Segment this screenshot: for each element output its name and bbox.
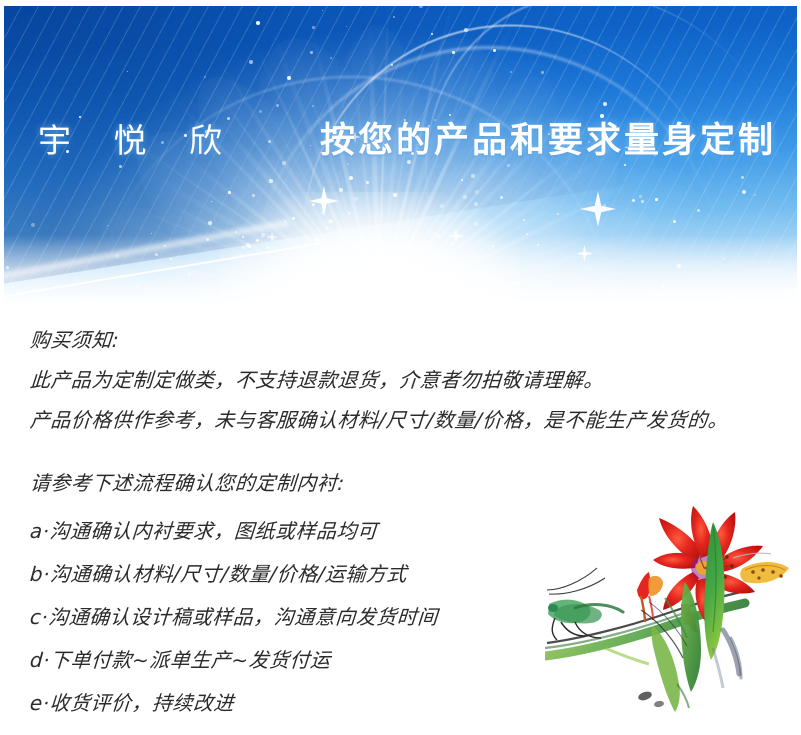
light-ray (378, 231, 661, 305)
light-petal-veil (215, 16, 448, 305)
sparkle-dot (492, 245, 494, 247)
sparkle-dot (464, 28, 468, 32)
sparkle-dot (725, 283, 728, 286)
sparkle-dot (205, 130, 209, 134)
sparkle-dot (274, 251, 276, 253)
light-ray (131, 162, 380, 305)
sparkle-dot (493, 49, 496, 52)
sparkle-dot (431, 33, 433, 35)
sparkle-dot (284, 220, 286, 222)
sparkle-dot (507, 164, 510, 167)
sparkle-dot (261, 233, 265, 237)
sparkle-dot (228, 300, 231, 303)
branch-group (545, 592, 745, 656)
sparkle-dot (228, 191, 231, 194)
sparkle-dot (56, 284, 58, 286)
sparkle-dot (179, 270, 180, 271)
sparkle-dot (402, 257, 406, 261)
banner-center-glow (5, 14, 765, 305)
light-petal-veil (160, 47, 423, 305)
sparkle-dot (79, 116, 81, 118)
sparkle-dot (256, 239, 259, 242)
sparkle-dot (269, 179, 273, 183)
sparkle-dot (227, 117, 230, 120)
sparkle-dot (259, 110, 262, 113)
light-ray (115, 130, 378, 305)
light-ray (110, 215, 379, 305)
sparkle-dot (379, 131, 380, 132)
sparkle-dot (553, 128, 555, 130)
light-ray (377, 290, 671, 305)
sparkle-dot (339, 188, 343, 192)
star-sparkle-icon (576, 245, 593, 262)
sparkle-dot (407, 160, 411, 164)
sparkle-dot (436, 234, 439, 237)
star-sparkle-icon (624, 141, 637, 154)
sparkle-dot (151, 233, 152, 234)
light-ray (377, 139, 567, 305)
sparkle-dot (428, 230, 431, 233)
sparkle-dot (315, 238, 319, 242)
sparkle-dot (127, 71, 128, 72)
sparkle-dot (330, 220, 333, 223)
sparkle-dot (541, 71, 544, 74)
page-root: 宇 悦 欣 按您的产品和要求量身定制 购买须知: 此产品为定制定做类，不支持退款… (0, 0, 801, 735)
light-petal-veil (84, 173, 394, 305)
sparkle-dot (419, 6, 423, 8)
sparkle-dot (321, 211, 324, 214)
sparkle-dot (436, 294, 439, 297)
sparkle-dot (603, 204, 606, 207)
sparkle-dot (742, 190, 746, 194)
light-ray (377, 6, 523, 305)
sparkle-dot (204, 76, 206, 78)
sparkle-dot (349, 176, 353, 180)
light-ray (308, 20, 381, 305)
light-petal-veil (99, 85, 420, 305)
light-ray (322, 6, 378, 305)
banner-glow-core (219, 192, 519, 305)
sparkle-dot (206, 238, 209, 241)
sparkle-dot (475, 190, 479, 194)
sparkle-dot (247, 252, 249, 254)
light-ray (128, 293, 377, 305)
sparkle-dot (500, 196, 503, 199)
notice-heading: 购买须知: (29, 327, 120, 353)
sparkle-dot (287, 294, 290, 297)
sparkle-dot (242, 246, 245, 249)
sparkle-dot (453, 231, 456, 234)
banner-bottom-fade (4, 235, 797, 305)
sparkle-dot (402, 261, 404, 263)
sparkle-dot (434, 119, 436, 121)
light-ray (377, 38, 408, 305)
star-sparkle-icon (309, 186, 339, 216)
sparkle-dot (516, 148, 518, 150)
light-ray (378, 129, 642, 305)
sparkle-dot (312, 203, 315, 206)
sparkle-dot (671, 268, 672, 269)
sparkle-dot (762, 282, 764, 284)
sparkle-dot (322, 10, 323, 11)
grasshopper-icon (547, 568, 623, 640)
sparkle-dot (347, 163, 349, 165)
sparkle-dot (468, 298, 470, 300)
sparkle-dot (188, 273, 191, 276)
sparkle-dot (382, 136, 384, 138)
sparkle-dot (505, 299, 509, 303)
banner-arc-streak-4 (353, 6, 797, 305)
sparkle-dot (697, 209, 700, 212)
light-ray (260, 6, 382, 305)
sparkle-dot (754, 194, 756, 196)
sparkle-dot (136, 284, 139, 287)
sparkle-dot (239, 254, 243, 258)
sparkle-dot (327, 235, 329, 237)
light-ray (174, 149, 379, 305)
sparkle-dot (290, 278, 293, 281)
notice-line: 此产品为定制定做类，不支持退款退货，介意者勿拍敬请理解。 (29, 367, 605, 393)
light-ray (377, 10, 429, 305)
sparkle-dot (251, 257, 253, 259)
light-ray (377, 84, 598, 305)
sparkle-dot (256, 21, 260, 25)
sparkle-dot (639, 195, 642, 198)
light-ray (134, 243, 378, 305)
sparkle-dot (475, 277, 476, 278)
promo-banner: 宇 悦 欣 按您的产品和要求量身定制 (4, 6, 797, 305)
sparkle-dot (446, 241, 448, 243)
light-ray (100, 271, 379, 305)
star-sparkle-icon (448, 228, 464, 244)
sparkle-dot (348, 212, 351, 215)
light-ray (208, 109, 380, 305)
process-step: b·沟通确认材料/尺寸/数量/价格/运输方式 (29, 561, 408, 587)
sparkle-dot (66, 150, 69, 153)
sparkle-dot (292, 217, 295, 220)
sparkle-dot (641, 200, 644, 203)
sparkle-dot (300, 285, 303, 288)
light-ray (252, 42, 379, 305)
sparkle-dot (376, 225, 378, 227)
light-ray (203, 74, 378, 305)
sparkle-dot (449, 114, 451, 116)
sparkle-dot (226, 295, 230, 299)
sparkle-dot (741, 176, 744, 179)
yellow-speckled-petal (733, 553, 789, 583)
sparkle-dot (516, 281, 520, 285)
light-ray (377, 46, 463, 305)
light-ray (377, 132, 603, 305)
sparkle-dot (632, 199, 635, 202)
process-heading: 请参考下述流程确认您的定制内衬: (29, 470, 346, 496)
sparkle-dot (31, 223, 35, 227)
banner-dark-sweep-secondary (4, 6, 444, 246)
light-ray (377, 6, 457, 305)
banner-arc-streak-3 (62, 42, 647, 305)
sparkle-dot (537, 244, 539, 246)
sparkle-dot (510, 281, 514, 285)
light-ray (377, 185, 672, 305)
sparkle-dot (411, 152, 414, 155)
sparkle-dot (463, 268, 465, 270)
sparkle-dot (382, 254, 385, 257)
sparkle-dot (404, 250, 406, 252)
sparkle-dot (461, 179, 463, 181)
sparkle-dot (474, 202, 478, 206)
sparkle-dot (164, 245, 166, 247)
ink-painting-illustration (545, 498, 795, 713)
sparkle-dot (211, 201, 212, 202)
sparkle-dot (452, 51, 455, 54)
light-ray (377, 48, 546, 305)
sparkle-dot (489, 284, 491, 286)
process-step: a·沟通确认内衬要求，图纸或样品均可 (29, 518, 378, 544)
sparkle-dot (170, 258, 172, 260)
sparkle-dot (231, 272, 233, 274)
sparkle-dot (310, 51, 313, 54)
sparkle-dot (208, 221, 212, 225)
sparkle-dot (575, 289, 576, 290)
sparkle-dot (6, 266, 9, 269)
sparkle-dot (510, 71, 512, 73)
sparkle-dot (438, 235, 441, 238)
sparkle-dot (252, 194, 255, 197)
light-ray (297, 55, 378, 305)
light-ray (377, 245, 694, 305)
sparkle-dot (653, 152, 657, 156)
light-ray (378, 273, 640, 305)
sparkle-dot (184, 134, 187, 137)
sparkle-dot (588, 141, 590, 143)
sparkle-dot (249, 60, 253, 64)
sparkle-dot (12, 286, 14, 288)
light-ray (378, 223, 625, 305)
sparkle-dot (455, 291, 457, 293)
sparkle-dot (161, 141, 164, 144)
sparkle-dot (276, 104, 279, 107)
sparkle-dot (246, 243, 250, 247)
banner-arc-streak-1 (248, 6, 781, 305)
sparkle-dot (600, 114, 604, 118)
sparkle-dot (526, 233, 528, 235)
light-ray (377, 6, 390, 305)
sparkle-dot (287, 76, 291, 80)
sparkle-dot (677, 264, 681, 268)
sparkle-dot (155, 253, 158, 256)
light-ray (203, 37, 380, 305)
light-petal-veil (357, 165, 672, 305)
banner-diagonal-line (4, 243, 320, 299)
light-ray (73, 246, 380, 305)
light-ray (377, 23, 489, 305)
banner-title-block: 宇 悦 欣 按您的产品和要求量身定制 (4, 118, 797, 176)
sparkle-dot (523, 219, 525, 221)
sparkle-dot (624, 164, 626, 166)
notice-line: 产品价格供作参考，未与客服确认材料/尺寸/数量/价格，是不能生产发货的。 (29, 407, 729, 433)
sparkle-dot (248, 245, 251, 248)
light-ray (377, 65, 512, 305)
process-step: c·沟通确认设计稿或样品，沟通意向发货时间 (29, 604, 439, 630)
sparkle-dot (346, 26, 347, 27)
sparkle-dot (326, 227, 329, 230)
sparkle-dot (127, 127, 129, 129)
sparkle-dot (354, 197, 358, 201)
sparkle-dot (463, 195, 467, 199)
sparkle-dot (268, 140, 271, 143)
light-ray (162, 116, 377, 305)
banner-dark-sweep (4, 6, 632, 303)
sparkle-dot (312, 26, 315, 29)
light-petal-veil (327, 45, 596, 305)
sparkle-dot (393, 193, 397, 197)
leaf-cluster (605, 522, 741, 712)
banner-sparkles (4, 6, 797, 305)
sparkle-dot (88, 261, 89, 262)
sparkle-dot (306, 220, 307, 221)
sparkle-dot (655, 198, 658, 201)
sparkle-dot (471, 174, 475, 178)
light-petal-veil (318, 25, 436, 305)
sparkle-dot (722, 257, 725, 260)
sparkle-dot (312, 105, 314, 107)
light-petal-veil (303, 15, 540, 305)
light-ray (367, 9, 382, 305)
sparkle-dot (340, 242, 341, 243)
process-step: d·下单付款~派单生产~发货付运 (29, 647, 331, 673)
sparkle-dot (391, 64, 393, 66)
sparkle-dot (20, 300, 22, 302)
light-ray (377, 178, 600, 305)
sparkle-dot (474, 222, 478, 226)
sparkle-dot (339, 264, 343, 268)
light-ray (250, 78, 378, 305)
sparkle-dot (330, 255, 332, 257)
light-ray (154, 79, 379, 305)
sparkle-dot (660, 291, 664, 295)
sparkle-dot (282, 161, 286, 165)
sparkle-dot (310, 145, 311, 146)
sparkle-dot (428, 125, 430, 127)
sparkle-dot (235, 231, 237, 233)
sparkle-dot (107, 225, 108, 226)
star-sparkle-icon (266, 231, 278, 243)
sparkle-dot (287, 286, 291, 290)
banner-slogan: 按您的产品和要求量身定制 (320, 116, 776, 166)
light-ray (87, 187, 377, 305)
sparkle-dot (404, 119, 406, 121)
sparkle-dot (440, 204, 444, 208)
banner-light-rays (4, 6, 797, 305)
light-ray (377, 94, 561, 305)
brand-name: 宇 悦 欣 (38, 118, 238, 164)
banner-petal-veils (4, 6, 797, 305)
star-sparkle-icon (349, 131, 361, 143)
small-red-bud (637, 572, 663, 622)
sparkle-dot (328, 219, 332, 223)
sparkle-dot (412, 236, 415, 239)
sparkle-dot (673, 220, 676, 223)
sparkle-dot (455, 280, 459, 284)
sparkle-dot (603, 102, 607, 106)
sparkle-dot (266, 246, 269, 249)
sparkle-dot (661, 284, 665, 288)
sparkle-dot (242, 236, 244, 238)
sparkle-dot (451, 242, 454, 245)
sparkle-dot (330, 57, 332, 59)
banner-arc-streak-2 (231, 23, 748, 305)
sparkle-dot (548, 133, 550, 135)
sparkle-dot (557, 213, 559, 215)
sparkle-dot (366, 181, 369, 184)
light-ray (350, 41, 380, 305)
sparkle-dot (115, 254, 119, 258)
light-petal-veil (330, 80, 658, 305)
banner-diagonal-soft (4, 219, 290, 281)
sparkle-dot (472, 285, 473, 286)
sparkle-dot (393, 16, 395, 18)
process-step: e·收货评价，持续改进 (29, 690, 235, 716)
banner-hatch-texture (4, 6, 797, 305)
light-ray (378, 178, 637, 305)
red-flower (653, 506, 763, 634)
sparkle-dot (119, 165, 122, 168)
star-sparkle-icon (580, 191, 616, 227)
light-ray (377, 107, 530, 305)
sparkle-dot (303, 235, 305, 237)
light-ray (149, 194, 379, 305)
